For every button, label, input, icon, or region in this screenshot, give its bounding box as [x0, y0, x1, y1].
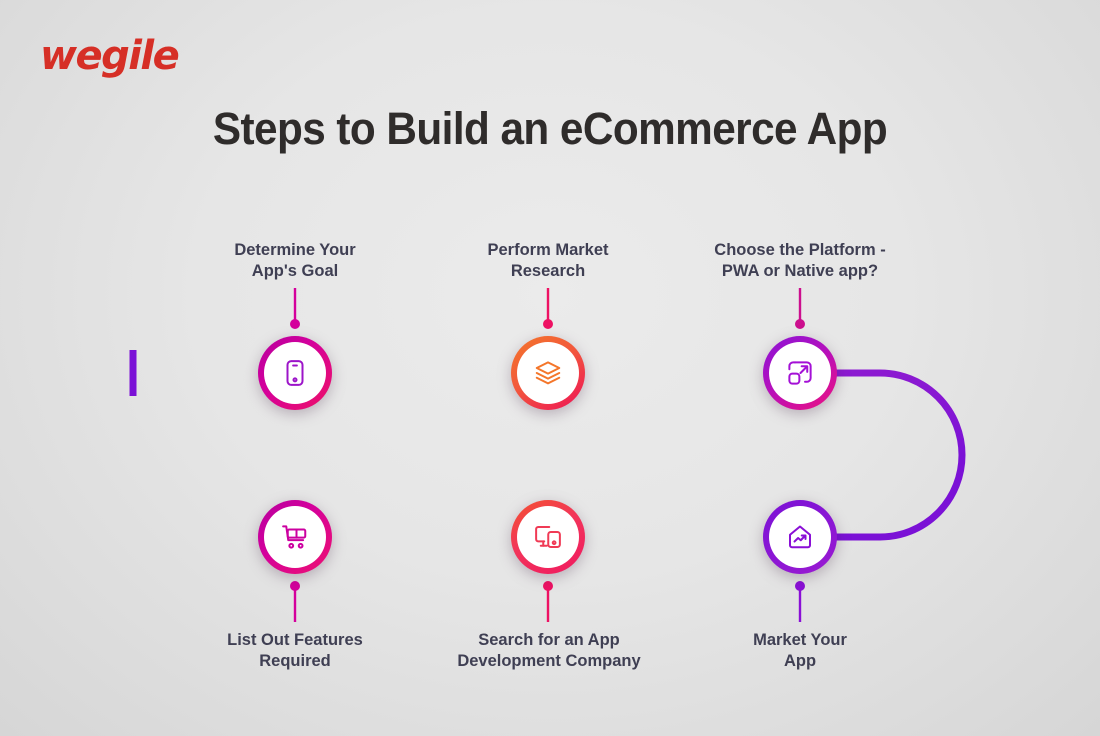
responsive-devices-icon: [533, 522, 563, 552]
dot-step1: [290, 319, 300, 329]
mobile-phone-icon: [280, 358, 310, 388]
step-label-1: Determine Your App's Goal: [175, 240, 415, 283]
step-node-6-inner: [769, 506, 831, 568]
dot-step6: [795, 581, 805, 591]
dot-step2: [543, 319, 553, 329]
step-label-4: List Out Features Required: [175, 630, 415, 673]
dot-step5: [543, 581, 553, 591]
step-node-4[interactable]: [258, 500, 332, 574]
dot-step3: [795, 319, 805, 329]
shopping-cart-icon: [280, 522, 310, 552]
infographic-canvas: wegile Steps to Build an eCommerce App: [0, 0, 1100, 736]
step-node-1-inner: [264, 342, 326, 404]
step-node-5-inner: [517, 506, 579, 568]
dot-step4: [290, 581, 300, 591]
step-node-3[interactable]: [763, 336, 837, 410]
uturn-curve: [833, 373, 962, 537]
growth-chart-home-icon: [785, 522, 815, 552]
step-node-4-inner: [264, 506, 326, 568]
step-node-5[interactable]: [511, 500, 585, 574]
platform-expand-icon: [785, 358, 815, 388]
step-node-1[interactable]: [258, 336, 332, 410]
step-label-6: Market Your App: [680, 630, 920, 673]
step-node-3-inner: [769, 342, 831, 404]
step-label-3: Choose the Platform - PWA or Native app?: [670, 240, 930, 283]
step-label-5: Search for an App Development Company: [424, 630, 674, 673]
step-node-2-inner: [517, 342, 579, 404]
step-label-2: Perform Market Research: [428, 240, 668, 283]
step-node-2[interactable]: [511, 336, 585, 410]
step-node-6[interactable]: [763, 500, 837, 574]
layers-stack-icon: [533, 358, 563, 388]
